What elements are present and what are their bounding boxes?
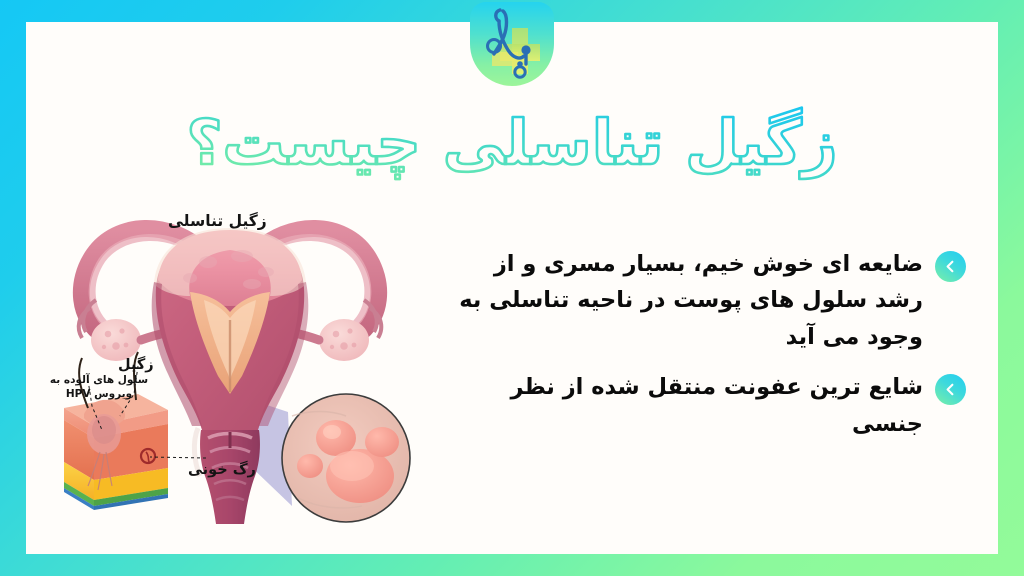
label-wart: زگیل — [118, 357, 154, 373]
page-title: زگیل تناسلی چیست؟ — [0, 96, 1024, 192]
anatomy-main-label: زگیل تناسلی — [168, 212, 267, 230]
wart-closeup-magnifier — [282, 394, 410, 522]
female-reproductive-anatomy-diagram — [30, 180, 430, 540]
bullet-text: ضایعه ای خوش خیم، بسیار مسری و از رشد سل… — [446, 246, 923, 355]
list-item: ضایعه ای خوش خیم، بسیار مسری و از رشد سل… — [446, 246, 966, 355]
label-infected-cells: سلول های آلوده به ویروس HPV — [44, 374, 154, 402]
chevron-left-icon — [935, 251, 966, 282]
ovary-right — [319, 319, 369, 361]
chevron-left-icon — [935, 374, 966, 405]
list-item: شایع ترین عفونت منتقل شده از نظر جنسی — [446, 369, 966, 442]
bullet-list: ضایعه ای خوش خیم، بسیار مسری و از رشد سل… — [446, 246, 966, 456]
slide-root: زگیل تناسلی چیست؟ ضایعه ای خوش خیم، بسیا… — [0, 0, 1024, 576]
bullet-text: شایع ترین عفونت منتقل شده از نظر جنسی — [446, 369, 923, 442]
ovary-left — [91, 319, 141, 361]
stethoscope-chestpiece — [521, 45, 530, 54]
page-title-text: زگیل تناسلی چیست؟ — [186, 106, 837, 179]
medical-clinic-logo — [470, 2, 554, 86]
label-blood-vessel: رگ خونی — [188, 462, 256, 478]
